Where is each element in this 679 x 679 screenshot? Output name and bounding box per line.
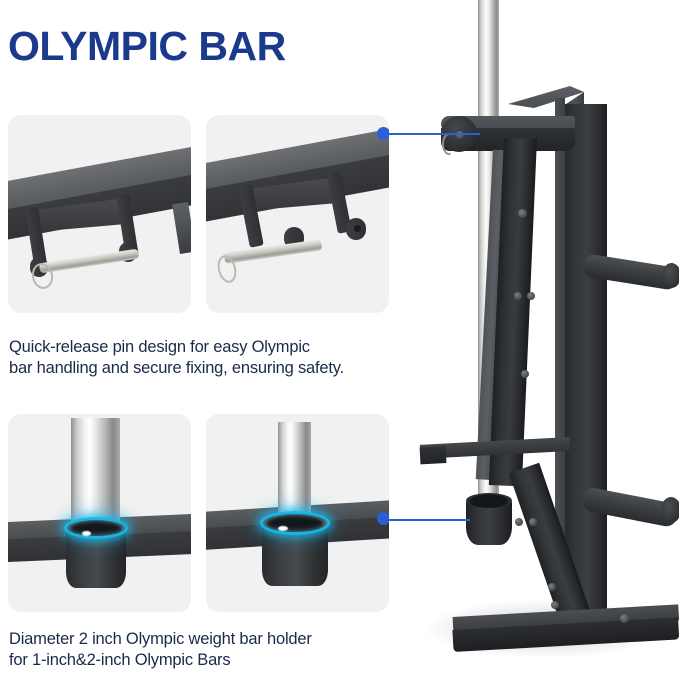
caption-top-line1: Quick-release pin design for easy Olympi… xyxy=(9,337,429,358)
caption-top-line2: bar handling and secure fixing, ensuring… xyxy=(9,358,429,379)
callout-line-holder xyxy=(383,519,470,521)
caption-bottom-line1: Diameter 2 inch Olympic weight bar holde… xyxy=(9,629,429,650)
caption-top: Quick-release pin design for easy Olympi… xyxy=(9,337,429,379)
highlight-glow-ring xyxy=(260,511,330,535)
callout-line-pin xyxy=(383,133,480,135)
brace-bolt-3 xyxy=(548,583,556,591)
rail-far-sliver xyxy=(172,202,191,254)
rear-column-front xyxy=(563,104,607,610)
beam-bolt-3 xyxy=(527,292,535,300)
bar-holder-cup-rim xyxy=(466,493,512,508)
brace-bolt-4 xyxy=(551,601,559,609)
caption-bottom-line2: for 1-inch&2-inch Olympic Bars xyxy=(9,650,429,671)
beam-bolt-2 xyxy=(514,292,522,300)
glow-highlight-spark xyxy=(278,526,288,531)
bracket-right-lug-hole xyxy=(354,225,361,232)
caption-bottom: Diameter 2 inch Olympic weight bar holde… xyxy=(9,629,429,671)
glow-highlight-spark xyxy=(82,531,91,536)
quick-release-pin-rod xyxy=(224,239,323,264)
beam-bolt-4 xyxy=(521,370,529,378)
page-title: OLYMPIC BAR xyxy=(8,23,286,70)
mid-cross-rail-end xyxy=(420,446,447,464)
feature-card-holder-two-inch[interactable] xyxy=(8,414,191,612)
feature-card-pin-locked[interactable] xyxy=(8,115,191,313)
brace-bolt-1 xyxy=(515,518,523,526)
feature-card-pin-released[interactable] xyxy=(206,115,389,313)
beam-bolt-1 xyxy=(518,209,527,218)
weight-plate-peg-upper-cap xyxy=(662,263,679,288)
weight-plate-peg-lower-cap xyxy=(661,497,679,523)
infographic-root: OLYMPIC BAR xyxy=(0,0,679,679)
feature-card-holder-one-inch[interactable] xyxy=(206,414,389,612)
base-foot-bolt xyxy=(620,614,629,623)
brace-bolt-2 xyxy=(529,518,537,526)
product-illustration xyxy=(415,0,679,679)
highlight-glow-ring xyxy=(64,517,128,539)
